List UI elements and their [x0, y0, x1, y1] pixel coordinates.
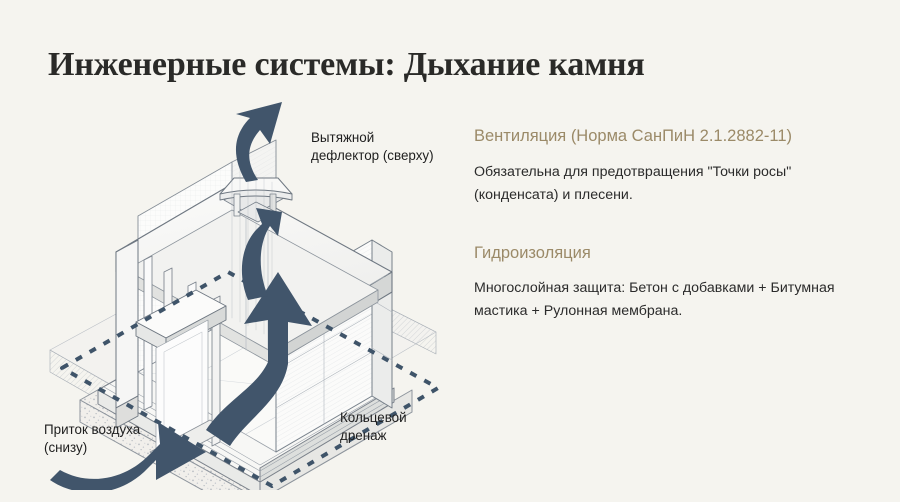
callout-intake-line2: (снизу)	[44, 439, 140, 457]
callout-drain-line2: дренаж	[340, 427, 407, 445]
section-ventilation-body: Обязательна для предотвращения "Точки ро…	[474, 161, 846, 207]
callout-drain-line1: Кольцевой	[340, 409, 407, 427]
callout-exhaust-deflector: Вытяжной дефлектор (сверху)	[311, 129, 434, 165]
callout-air-intake: Приток воздуха (снизу)	[44, 421, 140, 457]
callout-ring-drain: Кольцевой дренаж	[340, 409, 407, 445]
callout-intake-line1: Приток воздуха	[44, 421, 140, 439]
section-waterproofing-heading: Гидроизоляция	[474, 243, 874, 264]
page-title: Инженерные системы: Дыхание камня	[48, 46, 645, 84]
section-ventilation-heading: Вентиляция (Норма СанПиН 2.1.2882-11)	[474, 126, 874, 147]
callout-deflector-line2: дефлектор (сверху)	[311, 147, 434, 165]
section-waterproofing: Гидроизоляция Многослойная защита: Бетон…	[474, 243, 874, 324]
section-ventilation: Вентиляция (Норма СанПиН 2.1.2882-11) Об…	[474, 126, 874, 207]
content-column: Вентиляция (Норма СанПиН 2.1.2882-11) Об…	[474, 126, 874, 359]
callout-deflector-line1: Вытяжной	[311, 129, 434, 147]
slide-root: Инженерные системы: Дыхание камня	[0, 0, 900, 502]
section-waterproofing-body: Многослойная защита: Бетон с добавками +…	[474, 277, 846, 323]
